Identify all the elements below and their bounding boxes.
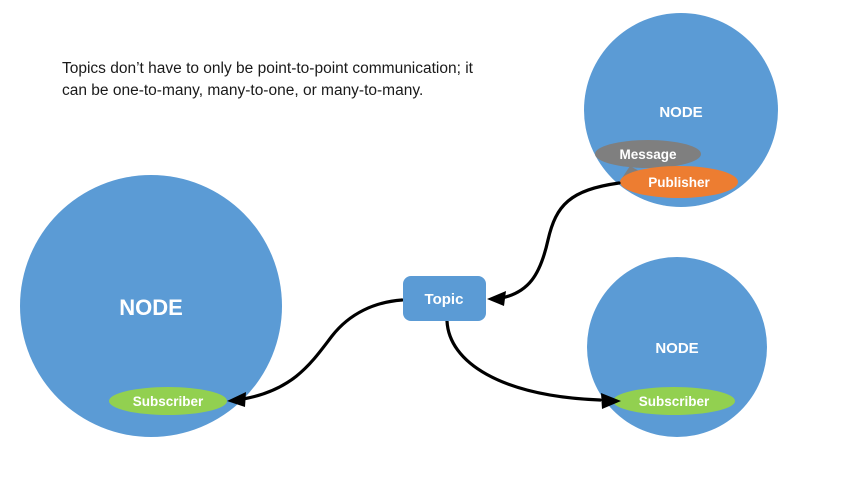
connector-publisher-to-topic-path: [502, 183, 619, 298]
publisher-label: Publisher: [648, 175, 710, 190]
node-bottom-right[interactable]: NODE Subscriber: [587, 257, 767, 437]
connector-publisher-to-topic: [487, 183, 619, 306]
node-left-label: NODE: [119, 295, 183, 320]
topic-box[interactable]: Topic: [403, 276, 486, 321]
slide-canvas: Topics don’t have to only be point-to-po…: [0, 0, 854, 480]
subscriber-bottom-right-label: Subscriber: [639, 394, 710, 409]
subscriber-left-label: Subscriber: [133, 394, 204, 409]
node-top-right[interactable]: NODE Message Publisher: [584, 13, 778, 207]
connector-publisher-to-topic-arrowhead: [487, 291, 506, 306]
message-label: Message: [619, 147, 677, 162]
subscriber-bottom-right[interactable]: Subscriber: [613, 387, 735, 415]
node-top-right-label: NODE: [659, 104, 702, 121]
node-bottom-right-label: NODE: [655, 340, 698, 357]
publisher-top-right[interactable]: Publisher: [620, 166, 738, 198]
subscriber-left[interactable]: Subscriber: [109, 387, 227, 415]
pubsub-diagram: NODE Subscriber NODE Message Publisher: [0, 0, 854, 480]
topic-box-label: Topic: [425, 291, 464, 308]
connector-topic-to-subscriber-bottom-right-path: [447, 321, 600, 400]
